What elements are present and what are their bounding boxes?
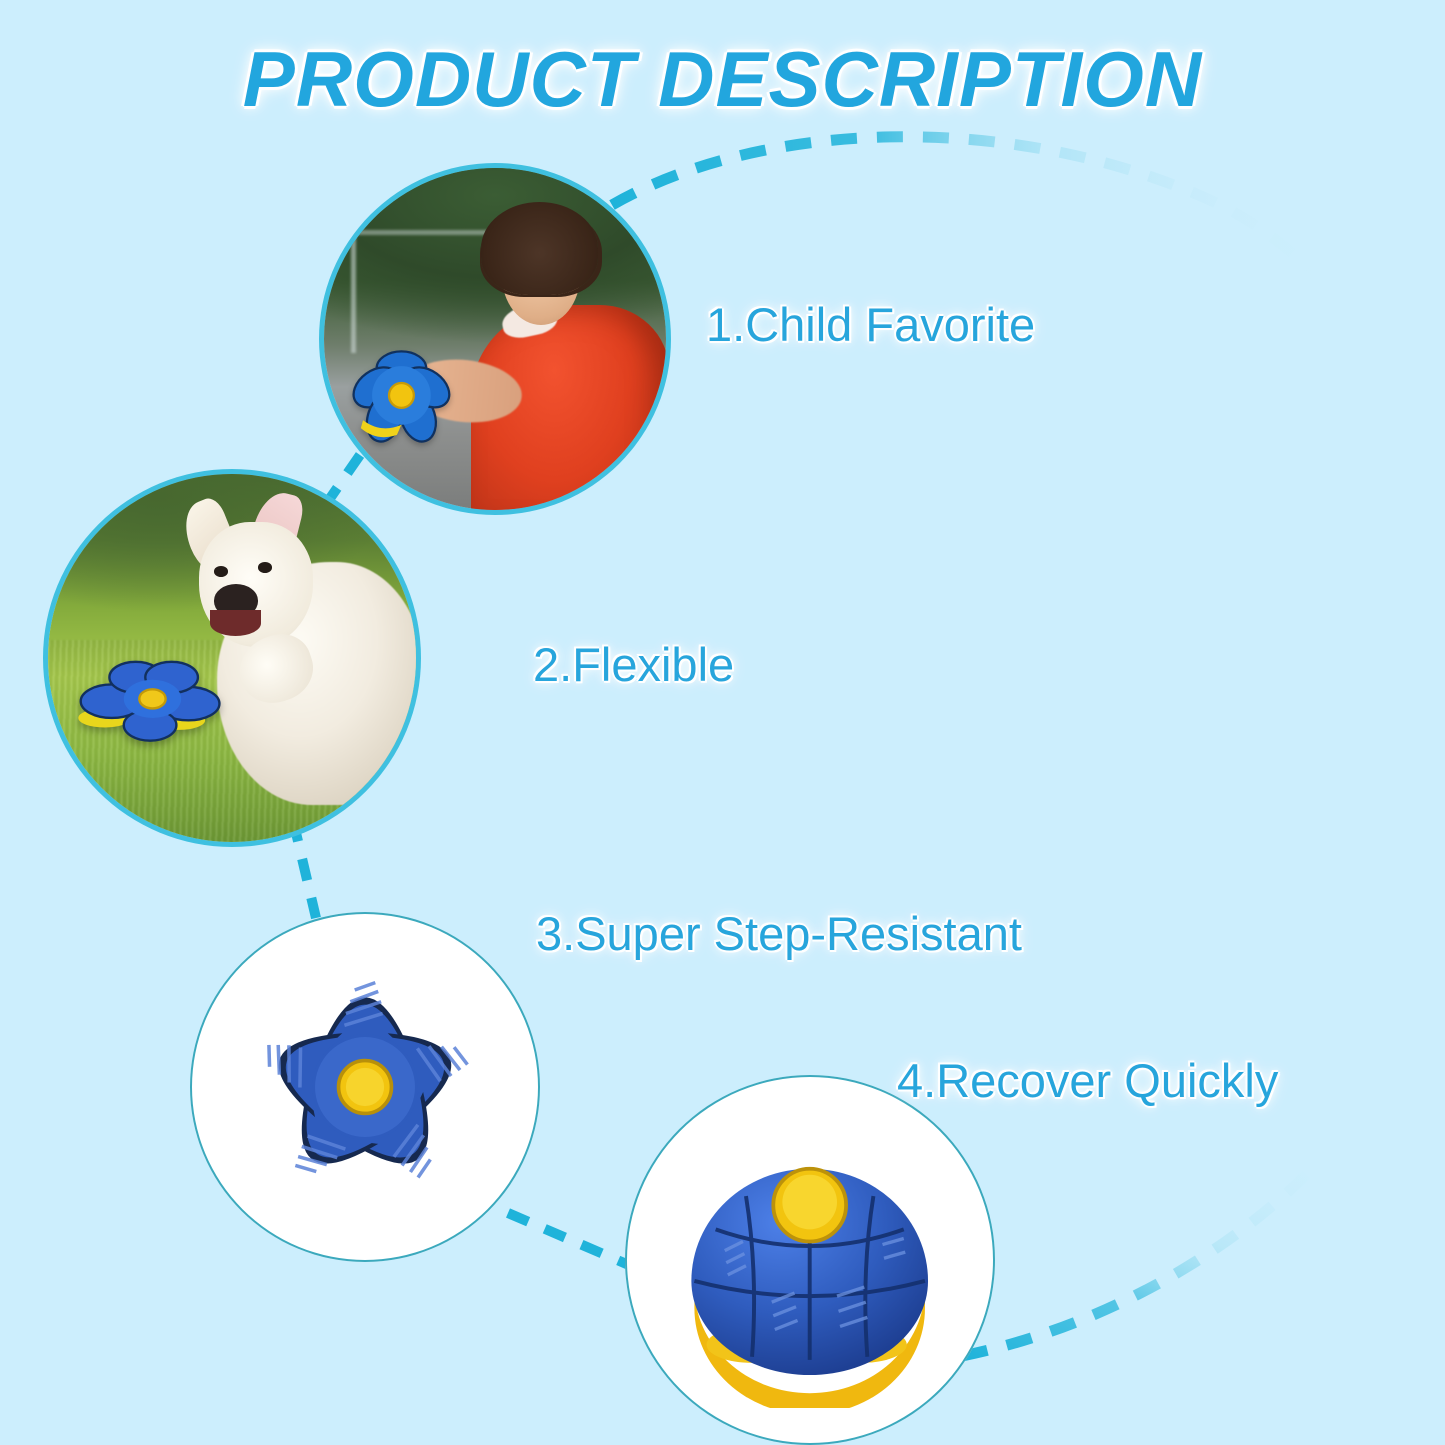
- dog-mouth: [210, 610, 262, 636]
- boy-scene: [324, 168, 666, 510]
- dog-scene: [48, 474, 416, 842]
- link-4-outer-arc-tail: [962, 1150, 1330, 1356]
- feature-label-1: 1.Child Favorite: [706, 297, 1035, 352]
- feature-label-2: 2.Flexible: [533, 637, 734, 692]
- disc-top-view-icon: [218, 940, 512, 1234]
- feature-image-step-resistant: [190, 912, 540, 1262]
- feature-label-3: 3.Super Step-Resistant: [536, 906, 1022, 961]
- feature-image-recover-quickly: [625, 1075, 995, 1445]
- feature-image-child-favorite: [324, 168, 666, 510]
- link-1-to-4-outer-arc: [612, 137, 1409, 660]
- infographic-canvas: PRODUCT DESCRIPTION: [0, 0, 1445, 1445]
- feature-label-4: 4.Recover Quickly: [897, 1053, 1278, 1108]
- feature-image-flexible: [48, 474, 416, 842]
- boy-hair: [481, 202, 597, 294]
- page-title: PRODUCT DESCRIPTION: [0, 34, 1445, 125]
- flattened-disc-icon: [66, 651, 239, 747]
- flying-disc-flower-icon: [345, 339, 458, 452]
- ball-dome-icon: [658, 1105, 961, 1408]
